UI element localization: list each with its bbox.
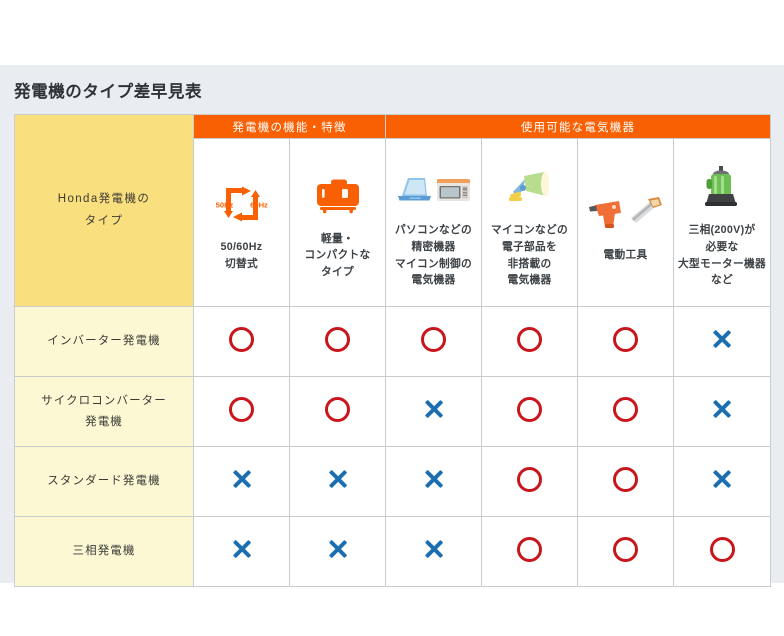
mark-ok-icon <box>517 467 542 492</box>
page-title: 発電機のタイプ差早見表 <box>14 78 202 102</box>
mark-ok-icon <box>613 467 638 492</box>
column-label-line: 電気機器 <box>482 272 577 289</box>
cell-r1-c5 <box>674 377 771 447</box>
cell-r3-c0 <box>194 517 290 587</box>
cell-r2-c1 <box>290 447 386 517</box>
saw-part <box>631 197 662 223</box>
column-label-line: 軽量・ <box>290 231 385 248</box>
table-row: スタンダード発電機 <box>15 447 771 517</box>
cell-r2-c4 <box>578 447 674 517</box>
column-label-line: タイプ <box>290 264 385 281</box>
drill-part <box>589 201 621 228</box>
corner-type-header: Honda発電機の タイプ <box>15 115 194 307</box>
cell-r1-c0 <box>194 377 290 447</box>
mark-ok-icon <box>613 537 638 562</box>
microwave-part <box>437 179 470 201</box>
cell-r3-c2 <box>386 517 482 587</box>
mark-ng-icon <box>229 466 255 492</box>
cell-r0-c4 <box>578 307 674 377</box>
column-header-power-tools: 電動工具 <box>578 139 674 307</box>
column-label-line: マイコンなどの <box>482 222 577 239</box>
mark-ok-icon <box>325 397 350 422</box>
column-header-hz-switch: 50Hz 60Hz 50/60Hz 切替式 <box>194 139 290 307</box>
column-header-compact: 軽量・ コンパクトな タイプ <box>290 139 386 307</box>
table-row: サイクロコンバーター 発電機 <box>15 377 771 447</box>
cell-r2-c3 <box>482 447 578 517</box>
row-label-line: インバーター発電機 <box>15 331 193 351</box>
column-label-line: パソコンなどの <box>386 222 481 239</box>
column-header-precision-devices: パソコンなどの 精密機器 マイコン制御の 電気機器 <box>386 139 482 307</box>
cell-r3-c1 <box>290 517 386 587</box>
row-header-cycloconverter: サイクロコンバーター 発電機 <box>15 377 194 447</box>
column-label-line: 電子部品を <box>482 239 577 256</box>
cell-r0-c5 <box>674 307 771 377</box>
mark-ok-icon <box>325 327 350 352</box>
mark-ok-icon <box>421 327 446 352</box>
cell-r3-c5 <box>674 517 771 587</box>
table-group-header-row: Honda発電機の タイプ 発電機の機能・特徴 使用可能な電気機器 <box>15 115 771 139</box>
cell-r0-c2 <box>386 307 482 377</box>
column-label-line: 三相(200V)が <box>674 222 770 239</box>
column-label-line: 非搭載の <box>482 256 577 273</box>
laptop-microwave-icon <box>386 156 481 218</box>
column-label-line: コンパクトな <box>290 247 385 264</box>
water-pump-icon <box>674 156 770 218</box>
cell-r3-c4 <box>578 517 674 587</box>
column-label-line: など <box>674 272 770 289</box>
corner-label-line1: Honda発電機の <box>15 189 193 210</box>
mark-ng-icon <box>421 536 447 562</box>
work-lamp-icon <box>482 156 577 218</box>
column-label-line: 電動工具 <box>578 247 673 264</box>
mark-ok-icon <box>229 397 254 422</box>
mark-ok-icon <box>517 537 542 562</box>
row-header-inverter: インバーター発電機 <box>15 307 194 377</box>
mark-ng-icon <box>709 326 735 352</box>
cell-r1-c3 <box>482 377 578 447</box>
row-label-line: 三相発電機 <box>15 541 193 561</box>
cell-r2-c0 <box>194 447 290 517</box>
svg-text:50Hz: 50Hz <box>215 200 233 209</box>
cell-r0-c0 <box>194 307 290 377</box>
cell-r3-c3 <box>482 517 578 587</box>
hz-switch-icon: 50Hz 60Hz <box>194 173 289 235</box>
mark-ng-icon <box>421 396 447 422</box>
table-row: インバーター発電機 <box>15 307 771 377</box>
cell-r0-c3 <box>482 307 578 377</box>
group-header-appliances: 使用可能な電気機器 <box>386 115 771 139</box>
group-header-features: 発電機の機能・特徴 <box>194 115 386 139</box>
row-label-line: 発電機 <box>15 412 193 432</box>
cell-r0-c1 <box>290 307 386 377</box>
column-label-line: 50/60Hz <box>194 239 289 256</box>
column-label-line: 切替式 <box>194 256 289 273</box>
column-label-line: 精密機器 <box>386 239 481 256</box>
table-row: 三相発電機 <box>15 517 771 587</box>
mark-ng-icon <box>709 466 735 492</box>
column-label-line: 必要な <box>674 239 770 256</box>
mark-ok-icon <box>517 397 542 422</box>
mark-ng-icon <box>325 536 351 562</box>
mark-ng-icon <box>229 536 255 562</box>
mark-ng-icon <box>421 466 447 492</box>
cell-r2-c5 <box>674 447 771 517</box>
mark-ok-icon <box>710 537 735 562</box>
svg-text:60Hz: 60Hz <box>250 200 268 209</box>
cell-r1-c2 <box>386 377 482 447</box>
power-drill-saw-icon <box>578 181 673 243</box>
cell-r1-c1 <box>290 377 386 447</box>
column-label-line: 大型モーター機器 <box>674 256 770 273</box>
column-header-no-microcontroller: マイコンなどの 電子部品を 非搭載の 電気機器 <box>482 139 578 307</box>
mark-ok-icon <box>229 327 254 352</box>
column-label-line: 電気機器 <box>386 272 481 289</box>
mark-ok-icon <box>517 327 542 352</box>
mark-ok-icon <box>613 327 638 352</box>
row-label-line: スタンダード発電機 <box>15 471 193 491</box>
mark-ng-icon <box>709 396 735 422</box>
row-header-standard: スタンダード発電機 <box>15 447 194 517</box>
cell-r2-c2 <box>386 447 482 517</box>
mark-ok-icon <box>613 397 638 422</box>
mark-ng-icon <box>325 466 351 492</box>
row-header-three-phase: 三相発電機 <box>15 517 194 587</box>
generator-type-comparison-table: Honda発電機の タイプ 発電機の機能・特徴 使用可能な電気機器 <box>14 114 771 587</box>
row-label-line: サイクロコンバーター <box>15 391 193 411</box>
laptop-part <box>398 178 431 201</box>
column-label-line: マイコン制御の <box>386 256 481 273</box>
portable-generator-icon <box>290 165 385 227</box>
column-header-three-phase-motor: 三相(200V)が 必要な 大型モーター機器 など <box>674 139 771 307</box>
corner-label-line2: タイプ <box>15 211 193 232</box>
cell-r1-c4 <box>578 377 674 447</box>
